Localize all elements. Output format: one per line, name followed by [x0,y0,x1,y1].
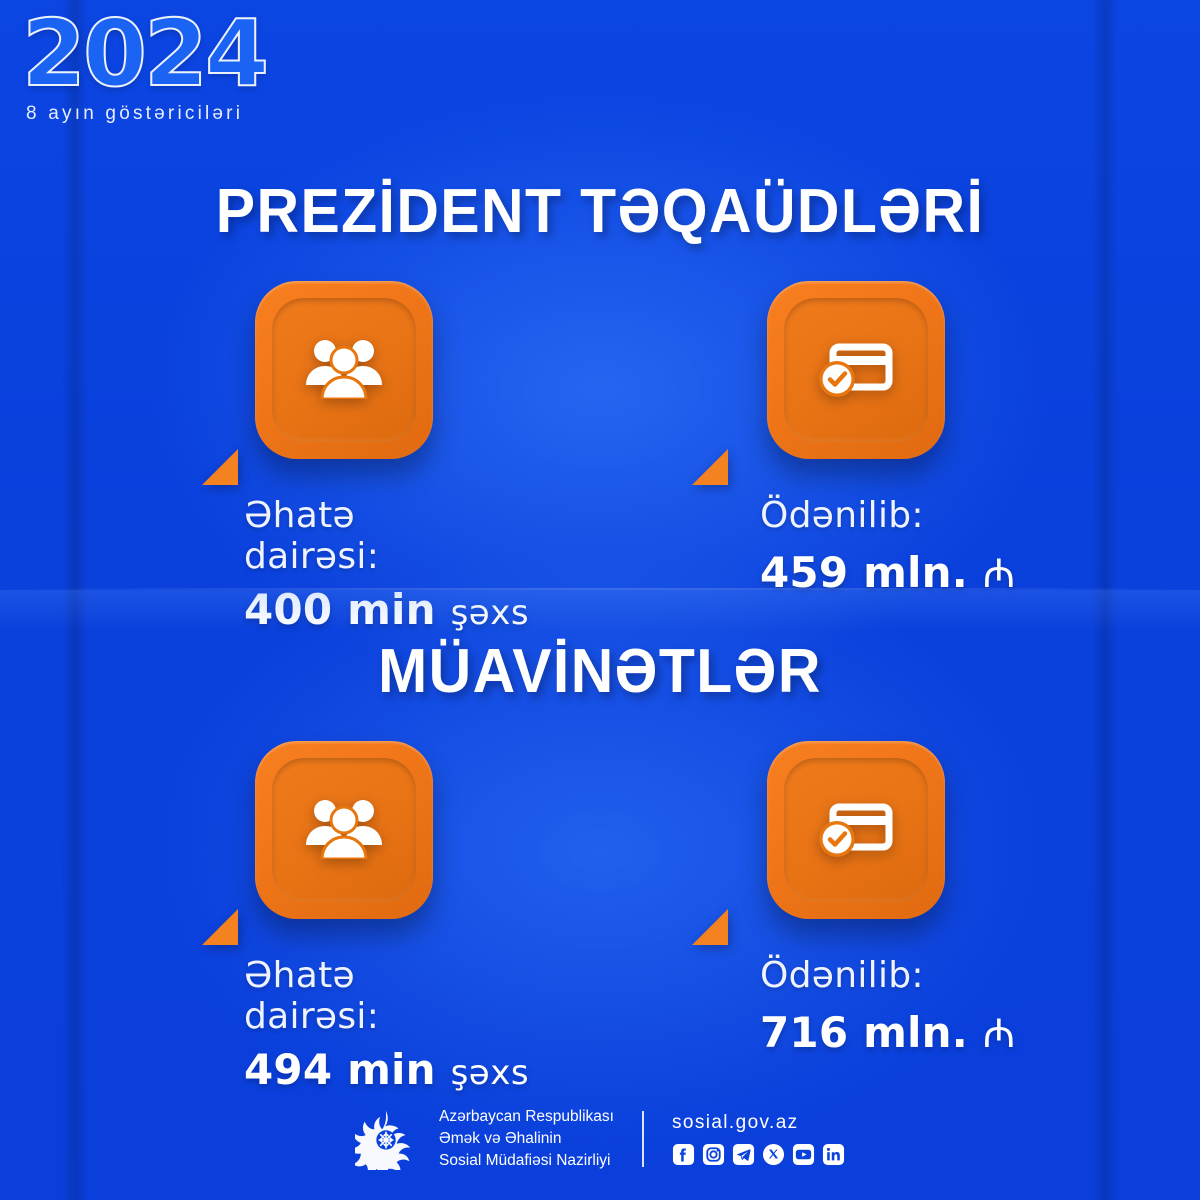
stat-value: 716 mln. ₼ [760,1004,1006,1059]
stat-label: Əhatə dairəsi: [244,495,494,577]
stat-card-paid: Ödənilib: 459 mln. ₼ [706,281,1006,634]
stat-label: Əhatə dairəsi: [244,955,494,1037]
section-allowances: MÜAVİNƏTLƏR [0,636,1200,1094]
stat-card-paid: Ödənilib: 716 mln. ₼ [706,741,1006,1094]
corner-triangle-accent [692,909,728,945]
stat-label: Ödənilib: [760,495,1006,536]
social-links [672,1143,845,1166]
stat-value-unit: şəxs [451,1053,529,1093]
stat-value: 494 min şəxs [244,1045,494,1094]
instagram-icon[interactable] [702,1143,725,1166]
stat-labels: Əhatə dairəsi: 494 min şəxs [194,955,494,1094]
icon-tile [255,741,433,919]
year-badge: 2024 8 ayın göstəriciləri [22,12,266,125]
section-president-scholarships: PREZİDENT TƏQAÜDLƏRİ [0,176,1200,634]
stat-value-number: 716 mln. [760,1008,968,1057]
icon-tile [255,281,433,459]
youtube-icon[interactable] [792,1143,815,1166]
stat-labels: Ödənilib: 716 mln. ₼ [706,955,1006,1059]
telegram-icon[interactable] [732,1143,755,1166]
stat-value-unit: ₼ [983,1011,1016,1057]
year-subtitle: 8 ayın göstəriciləri [26,103,266,125]
stat-labels: Ödənilib: 459 mln. ₼ [706,495,1006,599]
stat-cards-row: Əhatə dairəsi: 494 min şəxs [0,741,1200,1094]
corner-triangle-accent [202,449,238,485]
footer-divider [642,1111,644,1167]
x-twitter-icon[interactable] [762,1143,785,1166]
stat-cards-row: Əhatə dairəsi: 400 min şəxs [0,281,1200,634]
stat-value-number: 494 min [244,1045,436,1094]
section-divider [0,588,1200,590]
section-title: MÜAVİNƏTLƏR [30,636,1170,707]
facebook-icon[interactable] [672,1143,695,1166]
ministry-line-2: Əmək və Əhalinin [439,1128,614,1150]
corner-triangle-accent [692,449,728,485]
stat-label: Ödənilib: [760,955,1006,996]
ministry-line-3: Sosial Müdafiəsi Nazirliyi [439,1150,614,1172]
ministry-name: Azərbaycan Respublikası Əmək və Əhalinin… [439,1106,614,1172]
ministry-line-1: Azərbaycan Respublikası [439,1106,614,1128]
card-check-icon [817,337,895,404]
linkedin-icon[interactable] [822,1143,845,1166]
stat-value: 459 mln. ₼ [760,544,1006,599]
year-number: 2024 [22,12,266,97]
stat-value-unit: ₼ [983,551,1016,597]
stat-value-unit: şəxs [451,593,529,633]
corner-triangle-accent [202,909,238,945]
stat-labels: Əhatə dairəsi: 400 min şəxs [194,495,494,634]
stat-card-coverage: Əhatə dairəsi: 400 min şəxs [194,281,494,634]
stat-value: 400 min şəxs [244,585,494,634]
footer: Azərbaycan Respublikası Əmək və Əhalinin… [0,1106,1200,1172]
stat-card-coverage: Əhatə dairəsi: 494 min şəxs [194,741,494,1094]
website-url[interactable]: sosial.gov.az [672,1112,845,1134]
section-title: PREZİDENT TƏQAÜDLƏRİ [30,176,1170,247]
card-check-icon [817,797,895,864]
icon-tile [767,741,945,919]
icon-tile [767,281,945,459]
people-group-icon [304,797,384,864]
footer-web-block: sosial.gov.az [672,1112,845,1166]
infographic-canvas: 2024 8 ayın göstəriciləri PREZİDENT TƏQA… [0,0,1200,1200]
stat-value-number: 400 min [244,585,436,634]
people-group-icon [304,337,384,404]
ministry-star-emblem [355,1108,417,1170]
